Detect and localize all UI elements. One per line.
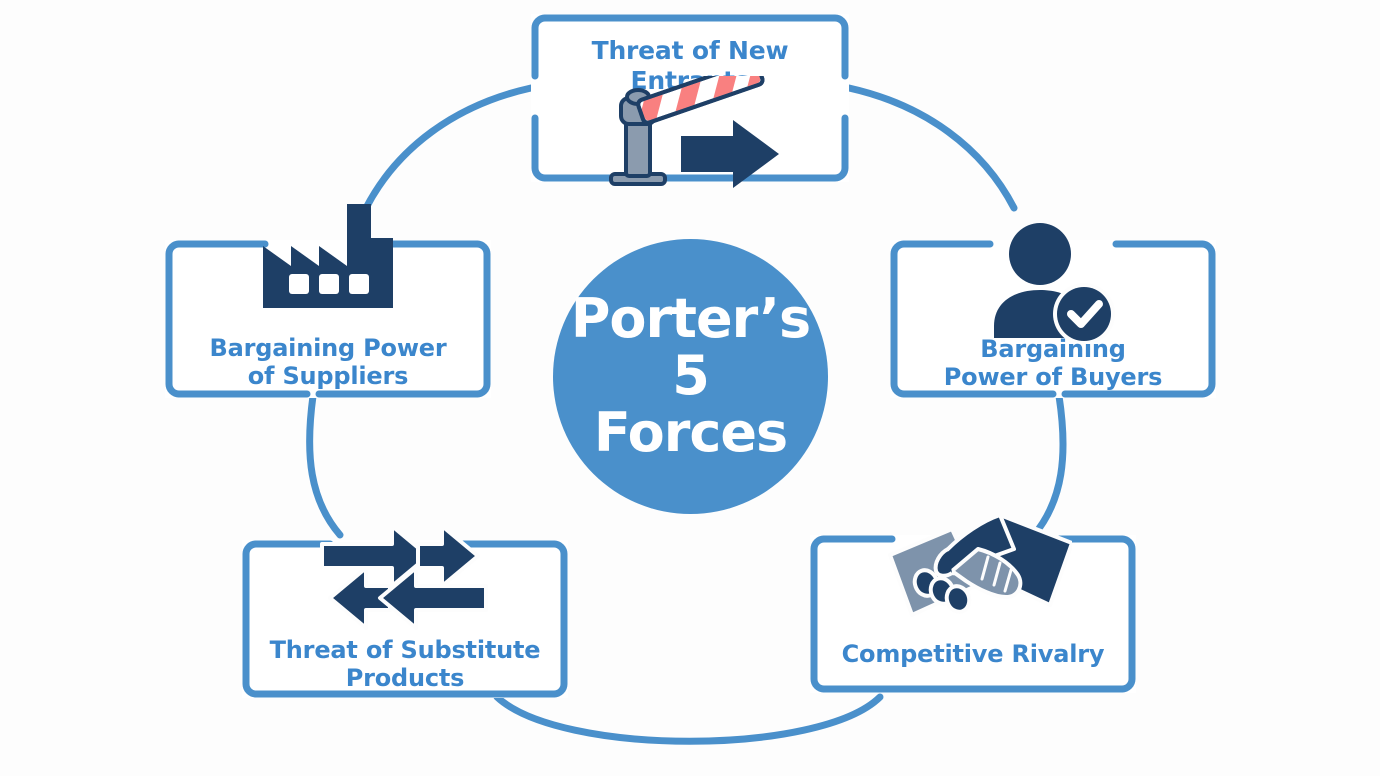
force-label-substitutes: Threat of Substitute Products <box>242 636 568 693</box>
force-label-buyers: Bargaining Power of Buyers <box>890 335 1216 392</box>
force-label-suppliers: Bargaining Power of Suppliers <box>165 334 491 391</box>
arc-entrants-to-suppliers <box>366 88 531 208</box>
buyer-person-check-icon <box>988 222 1118 342</box>
force-box-rivalry[interactable]: Competitive Rivalry <box>810 535 1136 693</box>
center-title: Porter’s 5 Forces <box>571 291 810 461</box>
handshake-icon <box>882 509 1072 637</box>
factory-icon <box>263 204 393 314</box>
four-arrows-swap-icon <box>314 516 494 638</box>
barrier-gate-arrow-icon <box>593 76 793 191</box>
arc-substitutes-to-rivalry <box>497 697 880 741</box>
force-label-rivalry: Competitive Rivalry <box>810 640 1136 668</box>
force-box-new-entrants[interactable]: Threat of New Entrants <box>531 14 849 182</box>
arc-entrants-to-buyers <box>849 88 1014 208</box>
arc-suppliers-to-substitutes <box>310 396 340 535</box>
force-box-buyers[interactable]: Bargaining Power of Buyers <box>890 240 1216 398</box>
center-circle: Porter’s 5 Forces <box>553 239 828 514</box>
force-box-suppliers[interactable]: Bargaining Power of Suppliers <box>165 240 491 398</box>
force-box-substitutes[interactable]: Threat of Substitute Products <box>242 540 568 698</box>
porters-five-forces-diagram: Porter’s 5 Forces Threat of New Entrants <box>0 0 1380 776</box>
